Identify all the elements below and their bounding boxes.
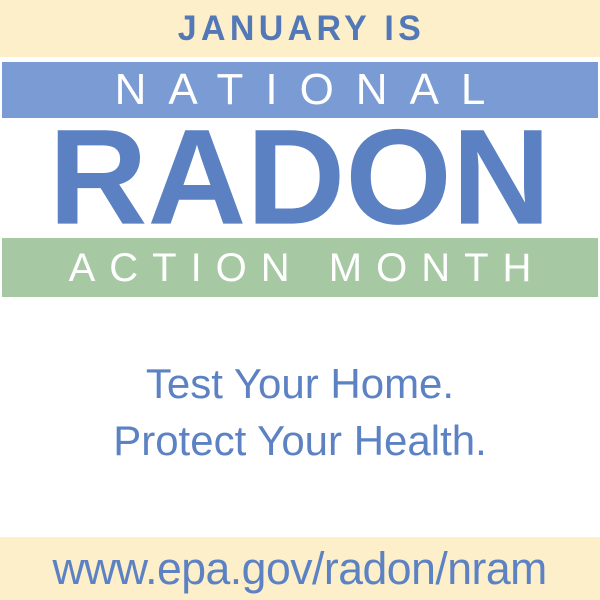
footer-url-link[interactable]: www.epa.gov/radon/nram	[53, 546, 547, 591]
radon-action-month-poster: JANUARY IS NATIONAL RADON ACTION MONTH T…	[0, 0, 600, 600]
headline-radon: RADON	[49, 110, 551, 246]
january-band: JANUARY IS	[0, 0, 600, 57]
action-month-band: ACTION MONTH	[2, 238, 598, 297]
headline-january-is: JANUARY IS	[174, 11, 425, 46]
footer-url-band: www.epa.gov/radon/nram	[0, 537, 600, 600]
radon-band: RADON	[0, 118, 600, 238]
headline-action-month: ACTION MONTH	[55, 248, 546, 288]
tagline-line-1: Test Your Home.	[0, 355, 600, 412]
tagline: Test Your Home. Protect Your Health.	[0, 355, 600, 469]
tagline-line-2: Protect Your Health.	[0, 412, 600, 469]
